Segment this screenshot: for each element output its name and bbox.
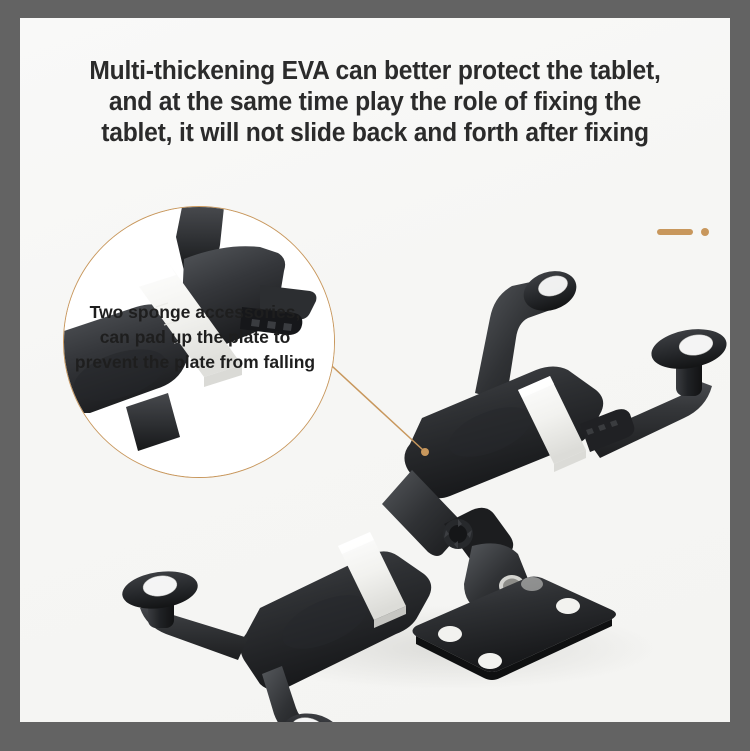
base-screw-hole-4: [521, 577, 543, 591]
base-screw-hole-3: [478, 653, 502, 669]
base-screw-hole-2: [556, 598, 580, 614]
caption-line-2: can pad up the plate to: [30, 325, 360, 350]
content-panel: Multi-thickening EVA can better protect …: [20, 18, 730, 722]
feature-caption: Two sponge accessories, can pad up the p…: [30, 300, 360, 375]
base-screw-hole-1: [438, 626, 462, 642]
caption-line-1: Two sponge accessories,: [30, 300, 360, 325]
product-banner: Multi-thickening EVA can better protect …: [0, 0, 750, 751]
grip-arm-left: [120, 567, 248, 660]
caption-line-3: prevent the plate from falling: [30, 350, 360, 375]
